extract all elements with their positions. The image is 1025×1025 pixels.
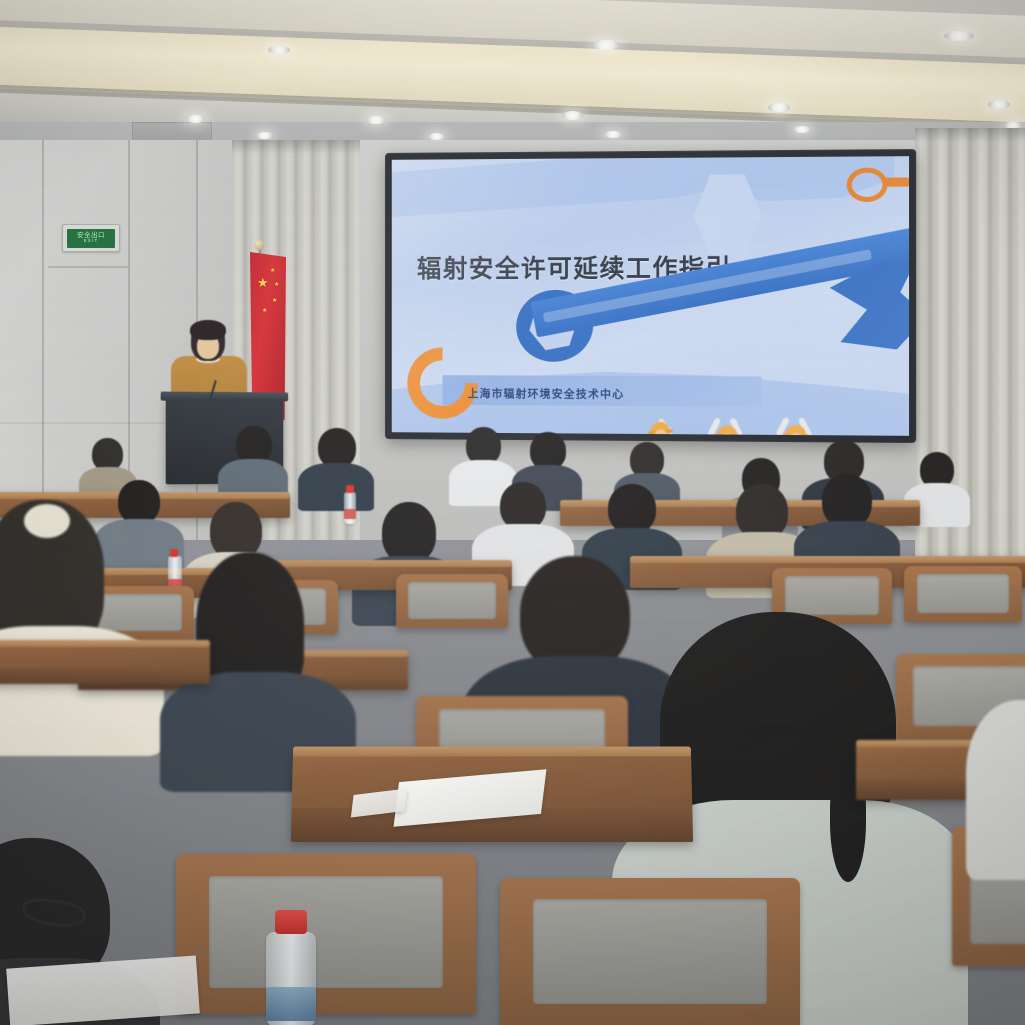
- ceiling-downlight: [366, 116, 386, 124]
- projection-screen: 辐射安全许可延续工作指引: [392, 156, 909, 436]
- desk-front-panel: [0, 668, 210, 684]
- flag-star-small: ★: [270, 268, 275, 274]
- chair-pad: [408, 582, 495, 620]
- exit-sign-face: 安全出口 EXIT: [67, 229, 115, 248]
- desk-edge: [0, 640, 210, 647]
- notebook-foreground: [6, 955, 200, 1025]
- ceiling-downlight: [256, 132, 273, 139]
- flag-star-small: ★: [272, 298, 277, 304]
- conference-room-photo: 安全出口 EXIT ★ ★ ★ ★ ★ 辐射安全许可延续工作指引: [0, 0, 1025, 1025]
- water-bottle: [344, 492, 356, 524]
- ceiling-downlight: [592, 40, 620, 50]
- bottle-label: [266, 987, 316, 1021]
- ceiling-downlight: [562, 111, 583, 120]
- ceiling-downlight: [604, 131, 622, 138]
- wall-panel-seam: [48, 266, 128, 268]
- hair-scrunchie: [24, 504, 70, 538]
- chair-pad: [533, 899, 767, 1004]
- bottle-cap: [346, 485, 354, 493]
- bottle-cap: [275, 910, 307, 934]
- water-bottle-foreground: [266, 932, 316, 1025]
- head: [382, 502, 436, 564]
- bottle-label: [344, 509, 356, 519]
- chair-pad: [785, 576, 879, 615]
- projection-screen-frame: 辐射安全许可延续工作指引: [386, 150, 915, 442]
- bottle-cap: [170, 549, 178, 557]
- desk-edge: [262, 560, 512, 567]
- ceiling-air-vent: [132, 122, 212, 141]
- ceiling-downlight: [793, 126, 811, 133]
- flag-finial: [254, 240, 264, 250]
- chair-pad: [917, 574, 1009, 613]
- ceiling-downlight: [186, 115, 205, 123]
- ceiling-downlight: [988, 100, 1010, 109]
- wall-panel-seam: [42, 140, 44, 540]
- orange-ring-wrench-tail: [882, 177, 909, 186]
- ceiling-downlight: [268, 46, 290, 54]
- flag-star-large: ★: [257, 276, 269, 289]
- chair-pad: [209, 876, 443, 988]
- chair: [396, 574, 508, 628]
- chair-foreground-right: [500, 878, 800, 1025]
- desk-left-foreground: [0, 640, 210, 684]
- curtain-rail-shadow: [232, 140, 360, 154]
- chair: [904, 566, 1022, 622]
- ceiling-downlight: [428, 133, 445, 140]
- speaker-fringe: [190, 320, 226, 340]
- exit-sign-label-en: EXIT: [84, 239, 99, 244]
- head: [500, 482, 546, 530]
- head: [118, 480, 160, 524]
- head: [822, 474, 872, 528]
- head: [318, 428, 356, 468]
- flag-star-small: ★: [262, 308, 267, 314]
- shoulders: [298, 463, 374, 511]
- slide-subtitle: 上海市辐射环境安全技术中心: [468, 385, 625, 402]
- curtain-rail-shadow: [915, 128, 1025, 142]
- ceiling-downlight: [944, 31, 974, 41]
- chair-pad: [98, 594, 182, 632]
- desk-edge: [293, 747, 691, 757]
- emergency-exit-sign: 安全出口 EXIT: [62, 224, 120, 252]
- flag-star-small: ★: [274, 282, 279, 288]
- chair-foreground-left: [176, 854, 476, 1014]
- ceiling-downlight: [768, 103, 790, 112]
- desk-edge: [630, 556, 1025, 563]
- podium-top-ledge: [161, 392, 289, 402]
- head: [608, 484, 656, 534]
